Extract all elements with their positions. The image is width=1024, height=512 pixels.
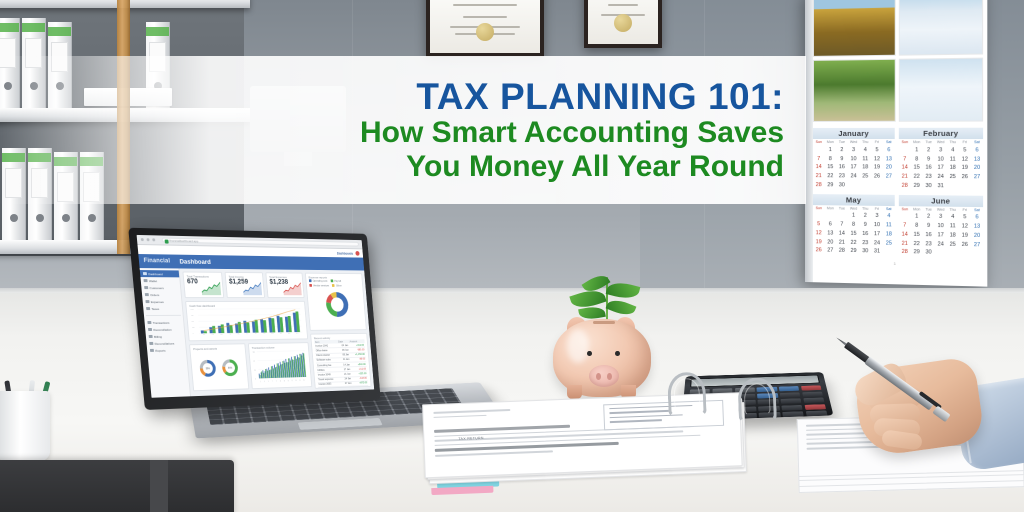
svg-text:21: 21	[299, 380, 300, 382]
calculator-key[interactable]	[803, 398, 824, 404]
headline-primary: TAX PLANNING 101:	[416, 77, 784, 116]
legend-item: Operating cost	[309, 279, 328, 282]
expense-donut-chart	[309, 288, 362, 322]
list-icon	[147, 321, 151, 325]
sidebar-item-reports[interactable]: Reports	[147, 346, 186, 354]
certificate-frame-2	[584, 0, 662, 48]
piggy-bank	[549, 277, 659, 407]
calculator-key[interactable]	[801, 385, 822, 390]
svg-text:7: 7	[272, 381, 273, 383]
legend-item: Payroll	[330, 279, 341, 282]
calendar-month: JanuarySunMonTueWedThuFriSat 12345678910…	[813, 128, 895, 191]
calendar-month: JuneSunMonTueWedThuFriSat 12345678910111…	[899, 194, 983, 258]
svg-text:5: 5	[268, 381, 269, 383]
sidebar-item-label: Orders	[150, 293, 159, 297]
calendar-days: SunMonTueWedThuFriSat 123456789101112131…	[899, 206, 983, 259]
svg-text:250: 250	[192, 327, 195, 329]
kpi-sparkline	[201, 280, 222, 295]
sidebar-item-orders[interactable]: Orders	[142, 291, 181, 298]
calendar-days: SunMonTueWedThuFriSat 123456789101112131…	[813, 205, 895, 257]
calendar-photo-autumn	[813, 0, 895, 57]
sidebar-item-label: Reconciliation	[153, 327, 172, 331]
legend-item: Vendor services	[309, 283, 329, 286]
sync-icon	[149, 342, 153, 346]
svg-text:Oct: Oct	[280, 332, 283, 334]
plant-leaf	[606, 296, 637, 319]
calendar-photo-green	[813, 59, 895, 122]
sidebar-item-taxes[interactable]: Taxes	[143, 305, 182, 312]
wall-calendar: JanuarySunMonTueWedThuFriSat 12345678910…	[805, 0, 987, 287]
recent-activity-table: ItemDateAmount Invoice 204104 Jan+412.00…	[314, 339, 368, 387]
calculator-key[interactable]	[782, 411, 804, 417]
svg-text:Jul: Jul	[255, 333, 258, 334]
svg-text:3: 3	[264, 381, 265, 383]
plant-leaf	[606, 279, 641, 301]
app-logo: Financial	[144, 258, 171, 264]
browser-reload-icon[interactable]	[152, 238, 155, 241]
calculator-key[interactable]	[780, 398, 801, 404]
sidebar-item-customers[interactable]: Customers	[141, 284, 180, 291]
dashboard-main: Total Transactions670Total Income$1,259T…	[179, 268, 374, 396]
laptop-trackpad[interactable]	[298, 418, 383, 430]
sidebar-item-label: Expenses	[151, 300, 164, 304]
app-top-brand: Dashboards	[337, 251, 353, 255]
calendar-photo-snow	[898, 58, 983, 122]
svg-text:58%: 58%	[206, 368, 210, 370]
lock-icon	[164, 239, 168, 243]
calendar-month-grid: JanuarySunMonTueWedThuFriSat 12345678910…	[805, 126, 987, 259]
laptop-screen[interactable]: financialdashboard.app Dashboards Financ…	[137, 235, 375, 398]
svg-text:May: May	[237, 334, 240, 336]
wallet-icon	[143, 279, 147, 283]
sidebar-divider	[146, 315, 181, 316]
title-block: TAX PLANNING 101: How Smart Accounting S…	[0, 56, 806, 204]
page-title: Dashboard	[179, 258, 211, 265]
calculator-key[interactable]	[779, 386, 800, 391]
headline-secondary-1: How Smart Accounting Saves	[360, 116, 784, 150]
svg-text:Jun: Jun	[246, 334, 249, 336]
gauges-card: Projects and assets 58%64%	[189, 343, 249, 391]
browser-back-icon[interactable]	[141, 238, 144, 241]
users-icon	[144, 286, 148, 290]
svg-text:0: 0	[255, 379, 256, 381]
svg-text:9: 9	[276, 381, 277, 383]
sidebar-item-label: Customers	[149, 286, 164, 290]
volume-card: Transaction volume 100673301357911131517…	[248, 342, 312, 389]
certificate-frame-1	[426, 0, 544, 57]
svg-text:100: 100	[253, 352, 255, 354]
headline-secondary-2: You Money All Year Round	[406, 150, 784, 184]
kpi-sparkline	[282, 281, 301, 295]
cart-icon	[145, 293, 149, 296]
sidebar-item-label: Transactions	[153, 320, 170, 324]
svg-text:19: 19	[295, 380, 296, 382]
kpi-row: Total Transactions670Total Income$1,259T…	[182, 271, 304, 298]
calendar-days: SunMonTueWedThuFriSat 123456789101112131…	[813, 139, 895, 190]
svg-text:33: 33	[254, 370, 255, 372]
svg-text:Jan: Jan	[203, 334, 206, 336]
card-icon	[149, 335, 153, 339]
sidebar-item-label: Wallet	[149, 279, 157, 283]
kpi-card-0: Total Transactions670	[182, 271, 224, 298]
table-row[interactable]: Invoice 205327 Jan+870.00	[318, 381, 369, 388]
hero-banner-scene: JanuarySunMonTueWedThuFriSat 12345678910…	[0, 0, 1024, 512]
calendar-month: MaySunMonTueWedThuFriSat 123456789101112…	[813, 194, 895, 257]
calculator-key[interactable]	[781, 405, 802, 411]
svg-text:Feb: Feb	[212, 334, 215, 336]
svg-text:67: 67	[253, 361, 254, 363]
recent-activity-card: Recent activity ItemDateAmount Invoice 2…	[310, 333, 372, 389]
calendar-month-name: January	[813, 128, 895, 139]
sidebar-item-label: Billing	[154, 334, 162, 338]
gauge-charts: 58%64%	[193, 350, 245, 386]
volume-chart: 100673301357911131517192123	[252, 349, 308, 385]
calculator-key[interactable]	[804, 404, 826, 410]
svg-text:17: 17	[291, 380, 292, 382]
svg-text:1: 1	[260, 381, 261, 383]
svg-text:13: 13	[284, 380, 285, 382]
grid-icon	[143, 272, 147, 276]
calendar-month-name: February	[899, 128, 983, 139]
calculator-key[interactable]	[780, 392, 801, 397]
svg-text:23: 23	[303, 380, 304, 382]
avatar[interactable]	[355, 251, 359, 256]
expense-donut-card: Expense reports Operating costPayrollVen…	[305, 273, 367, 331]
table-cell: +870.00	[352, 381, 368, 386]
calculator-key[interactable]	[806, 410, 828, 416]
svg-text:750: 750	[191, 315, 194, 317]
svg-text:Aug: Aug	[263, 333, 266, 335]
sidebar-item-label: Taxes	[151, 307, 159, 311]
svg-text:Apr: Apr	[229, 333, 232, 335]
calculator-key[interactable]	[802, 391, 823, 396]
svg-text:500: 500	[192, 321, 195, 323]
divider-tab	[431, 486, 493, 495]
receipt-icon	[145, 300, 149, 303]
table-cell: Invoice 2053	[318, 382, 342, 388]
sidebar-item-label: Dashboard	[148, 272, 163, 276]
legend-item: Other	[332, 284, 342, 287]
kpi-card-2: Total Expenses$1,238	[265, 272, 304, 298]
kpi-sparkline	[242, 281, 262, 295]
calendar-days: SunMonTueWedThuFriSat 123456789101112131…	[899, 139, 983, 191]
browser-forward-icon[interactable]	[146, 238, 149, 241]
svg-text:1000: 1000	[191, 309, 195, 311]
table-cell: 27 Jan	[341, 381, 353, 386]
svg-text:Nov: Nov	[288, 333, 291, 334]
sidebar-item-label: Reports	[155, 348, 166, 352]
chart-icon	[150, 349, 154, 353]
sidebar-item-label: Reconciliations	[154, 341, 174, 345]
cashflow-chart: 10007505002500JanFebMarAprMayJunJulAugSe…	[189, 307, 304, 337]
laptop: financialdashboard.app Dashboards Financ…	[137, 228, 467, 488]
svg-text:15: 15	[288, 380, 289, 382]
browser-url-text: financialdashboard.app	[169, 237, 198, 245]
percent-icon	[146, 307, 150, 311]
svg-text:0: 0	[193, 333, 194, 335]
calendar-photo-winter	[898, 0, 983, 56]
svg-text:Dec: Dec	[296, 333, 299, 334]
document-stack: TAX RETURN	[422, 392, 756, 512]
hand-writing	[840, 330, 1024, 480]
laptop-lid: financialdashboard.app Dashboards Financ…	[128, 228, 380, 410]
check-icon	[148, 328, 152, 332]
svg-text:Sep: Sep	[271, 333, 274, 334]
cashflow-chart-card: Cash flow dashboard 10007505002500JanFeb…	[185, 301, 308, 341]
svg-text:Mar: Mar	[220, 334, 223, 336]
expense-donut-legend: Operating costPayrollVendor servicesOthe…	[309, 279, 360, 287]
kpi-card-1: Total Income$1,259	[225, 272, 265, 298]
calendar-month: FebruarySunMonTueWedThuFriSat 1234567891…	[899, 128, 983, 191]
svg-text:64%: 64%	[228, 368, 232, 370]
svg-text:11: 11	[280, 380, 281, 382]
